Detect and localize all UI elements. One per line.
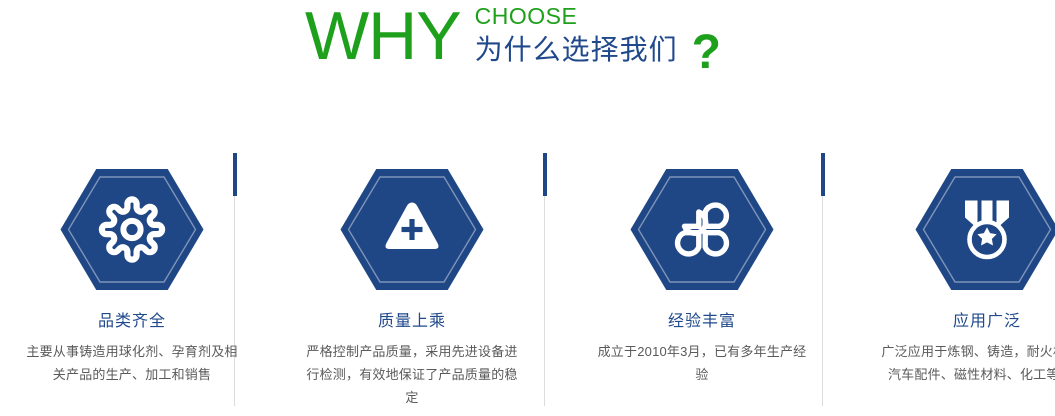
triangle-plus-icon <box>341 168 484 291</box>
card-description: 广泛应用于炼钢、铸造，耐火材料、汽车配件、磁性材料、化工等行业 <box>880 340 1055 386</box>
card-description: 主要从事铸造用球化剂、孕育剂及相关产品的生产、加工和销售 <box>25 340 240 386</box>
card-title: 应用广泛 <box>855 312 1055 332</box>
hexagon-badge <box>916 168 1055 291</box>
header-title-group: WHY CHOOSE 为什么选择我们 ? <box>305 0 721 72</box>
hexagon-badge <box>631 168 774 291</box>
section-header: WHY CHOOSE 为什么选择我们 ? <box>0 0 1055 95</box>
header-cn-title: 为什么选择我们 <box>475 33 678 67</box>
feature-card[interactable]: 品类齐全 主要从事铸造用球化剂、孕育剂及相关产品的生产、加工和销售 <box>0 150 264 416</box>
feature-card[interactable]: 应用广泛 广泛应用于炼钢、铸造，耐火材料、汽车配件、磁性材料、化工等行业 <box>855 150 1055 416</box>
header-text-stack: CHOOSE 为什么选择我们 ? <box>475 0 721 69</box>
card-title: 品类齐全 <box>0 312 264 332</box>
card-description: 严格控制产品质量，采用先进设备进行检测，有效地保证了产品质量的稳定 <box>305 340 520 409</box>
feature-cards-row: 品类齐全 主要从事铸造用球化剂、孕育剂及相关产品的生产、加工和销售 质量上乘 严… <box>0 150 1055 416</box>
hexagon-badge <box>61 168 204 291</box>
feature-card[interactable]: 质量上乘 严格控制产品质量，采用先进设备进行检测，有效地保证了产品质量的稳定 <box>280 150 544 416</box>
gear-icon <box>61 168 204 291</box>
feature-card[interactable]: 经验丰富 成立于2010年3月，已有多年生产经验 <box>570 150 834 416</box>
header-question-mark: ? <box>692 34 721 72</box>
medal-star-icon <box>916 168 1055 291</box>
card-title: 质量上乘 <box>280 312 544 332</box>
header-cn-line: 为什么选择我们 ? <box>475 31 721 69</box>
four-petal-clover-icon <box>631 168 774 291</box>
header-choose-word: CHOOSE <box>475 4 721 29</box>
divider-line <box>544 196 545 406</box>
card-description: 成立于2010年3月，已有多年生产经验 <box>595 340 810 386</box>
header-why-word: WHY <box>305 0 461 72</box>
card-title: 经验丰富 <box>570 312 834 332</box>
hexagon-badge <box>341 168 484 291</box>
